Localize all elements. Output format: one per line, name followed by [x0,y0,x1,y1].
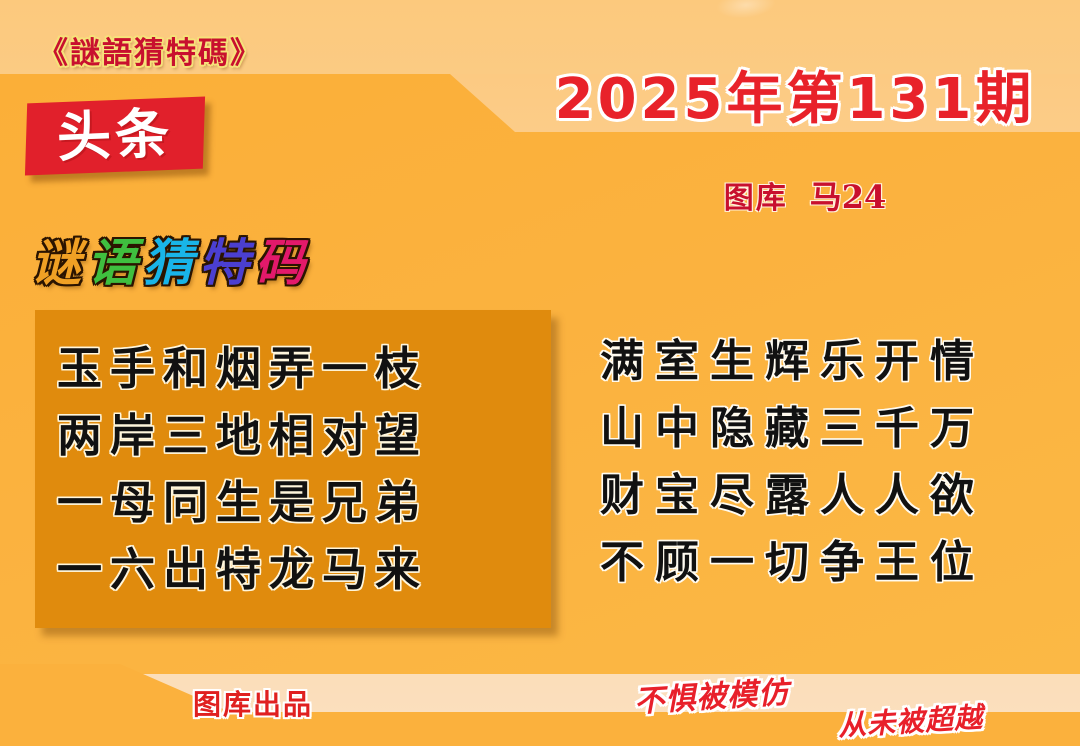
poem-line: 满室生辉乐开情 [600,328,1070,395]
library-label: 图库 [724,181,788,216]
poem-line: 山中隐藏三千万 [600,395,1070,462]
rainbow-char-3: 猜 [140,238,196,288]
poem-block: 满室生辉乐开情 山中隐藏三千万 财宝尽露人人欲 不顾一切争王位 [600,328,1070,596]
rainbow-char-1: 谜 [28,238,84,288]
poem-line: 不顾一切争王位 [600,529,1070,596]
period-title: 2025年第131期 [540,72,1050,128]
riddle-line: 一六出特龙马来 [57,536,529,603]
headline-badge-label: 头条 [56,107,174,165]
footer-producer: 图库出品 [193,683,313,723]
poem-line: 财宝尽露人人欲 [600,462,1070,529]
riddle-box: 玉手和烟弄一枝 两岸三地相对望 一母同生是兄弟 一六出特龙马来 [35,310,551,628]
poster-canvas: 《謎語猜特碼》 头条 谜语猜特码 玉手和烟弄一枝 两岸三地相对望 一母同生是兄弟… [0,0,1080,746]
headline-badge: 头条 [25,97,205,176]
library-credit: 图库马24 [560,172,1050,218]
riddle-line: 玉手和烟弄一枝 [57,335,529,402]
riddle-line: 一母同生是兄弟 [57,469,529,536]
rainbow-char-2: 语 [84,238,140,288]
riddle-line: 两岸三地相对望 [57,402,529,469]
rainbow-char-4: 特 [196,238,252,288]
library-code: 马24 [810,178,887,216]
rainbow-heading: 谜语猜特码 [28,238,308,288]
slogan-primary: 不惧被模仿 [633,667,790,720]
traditional-title: 《謎語猜特碼》 [38,28,262,72]
rainbow-char-5: 码 [252,238,308,288]
